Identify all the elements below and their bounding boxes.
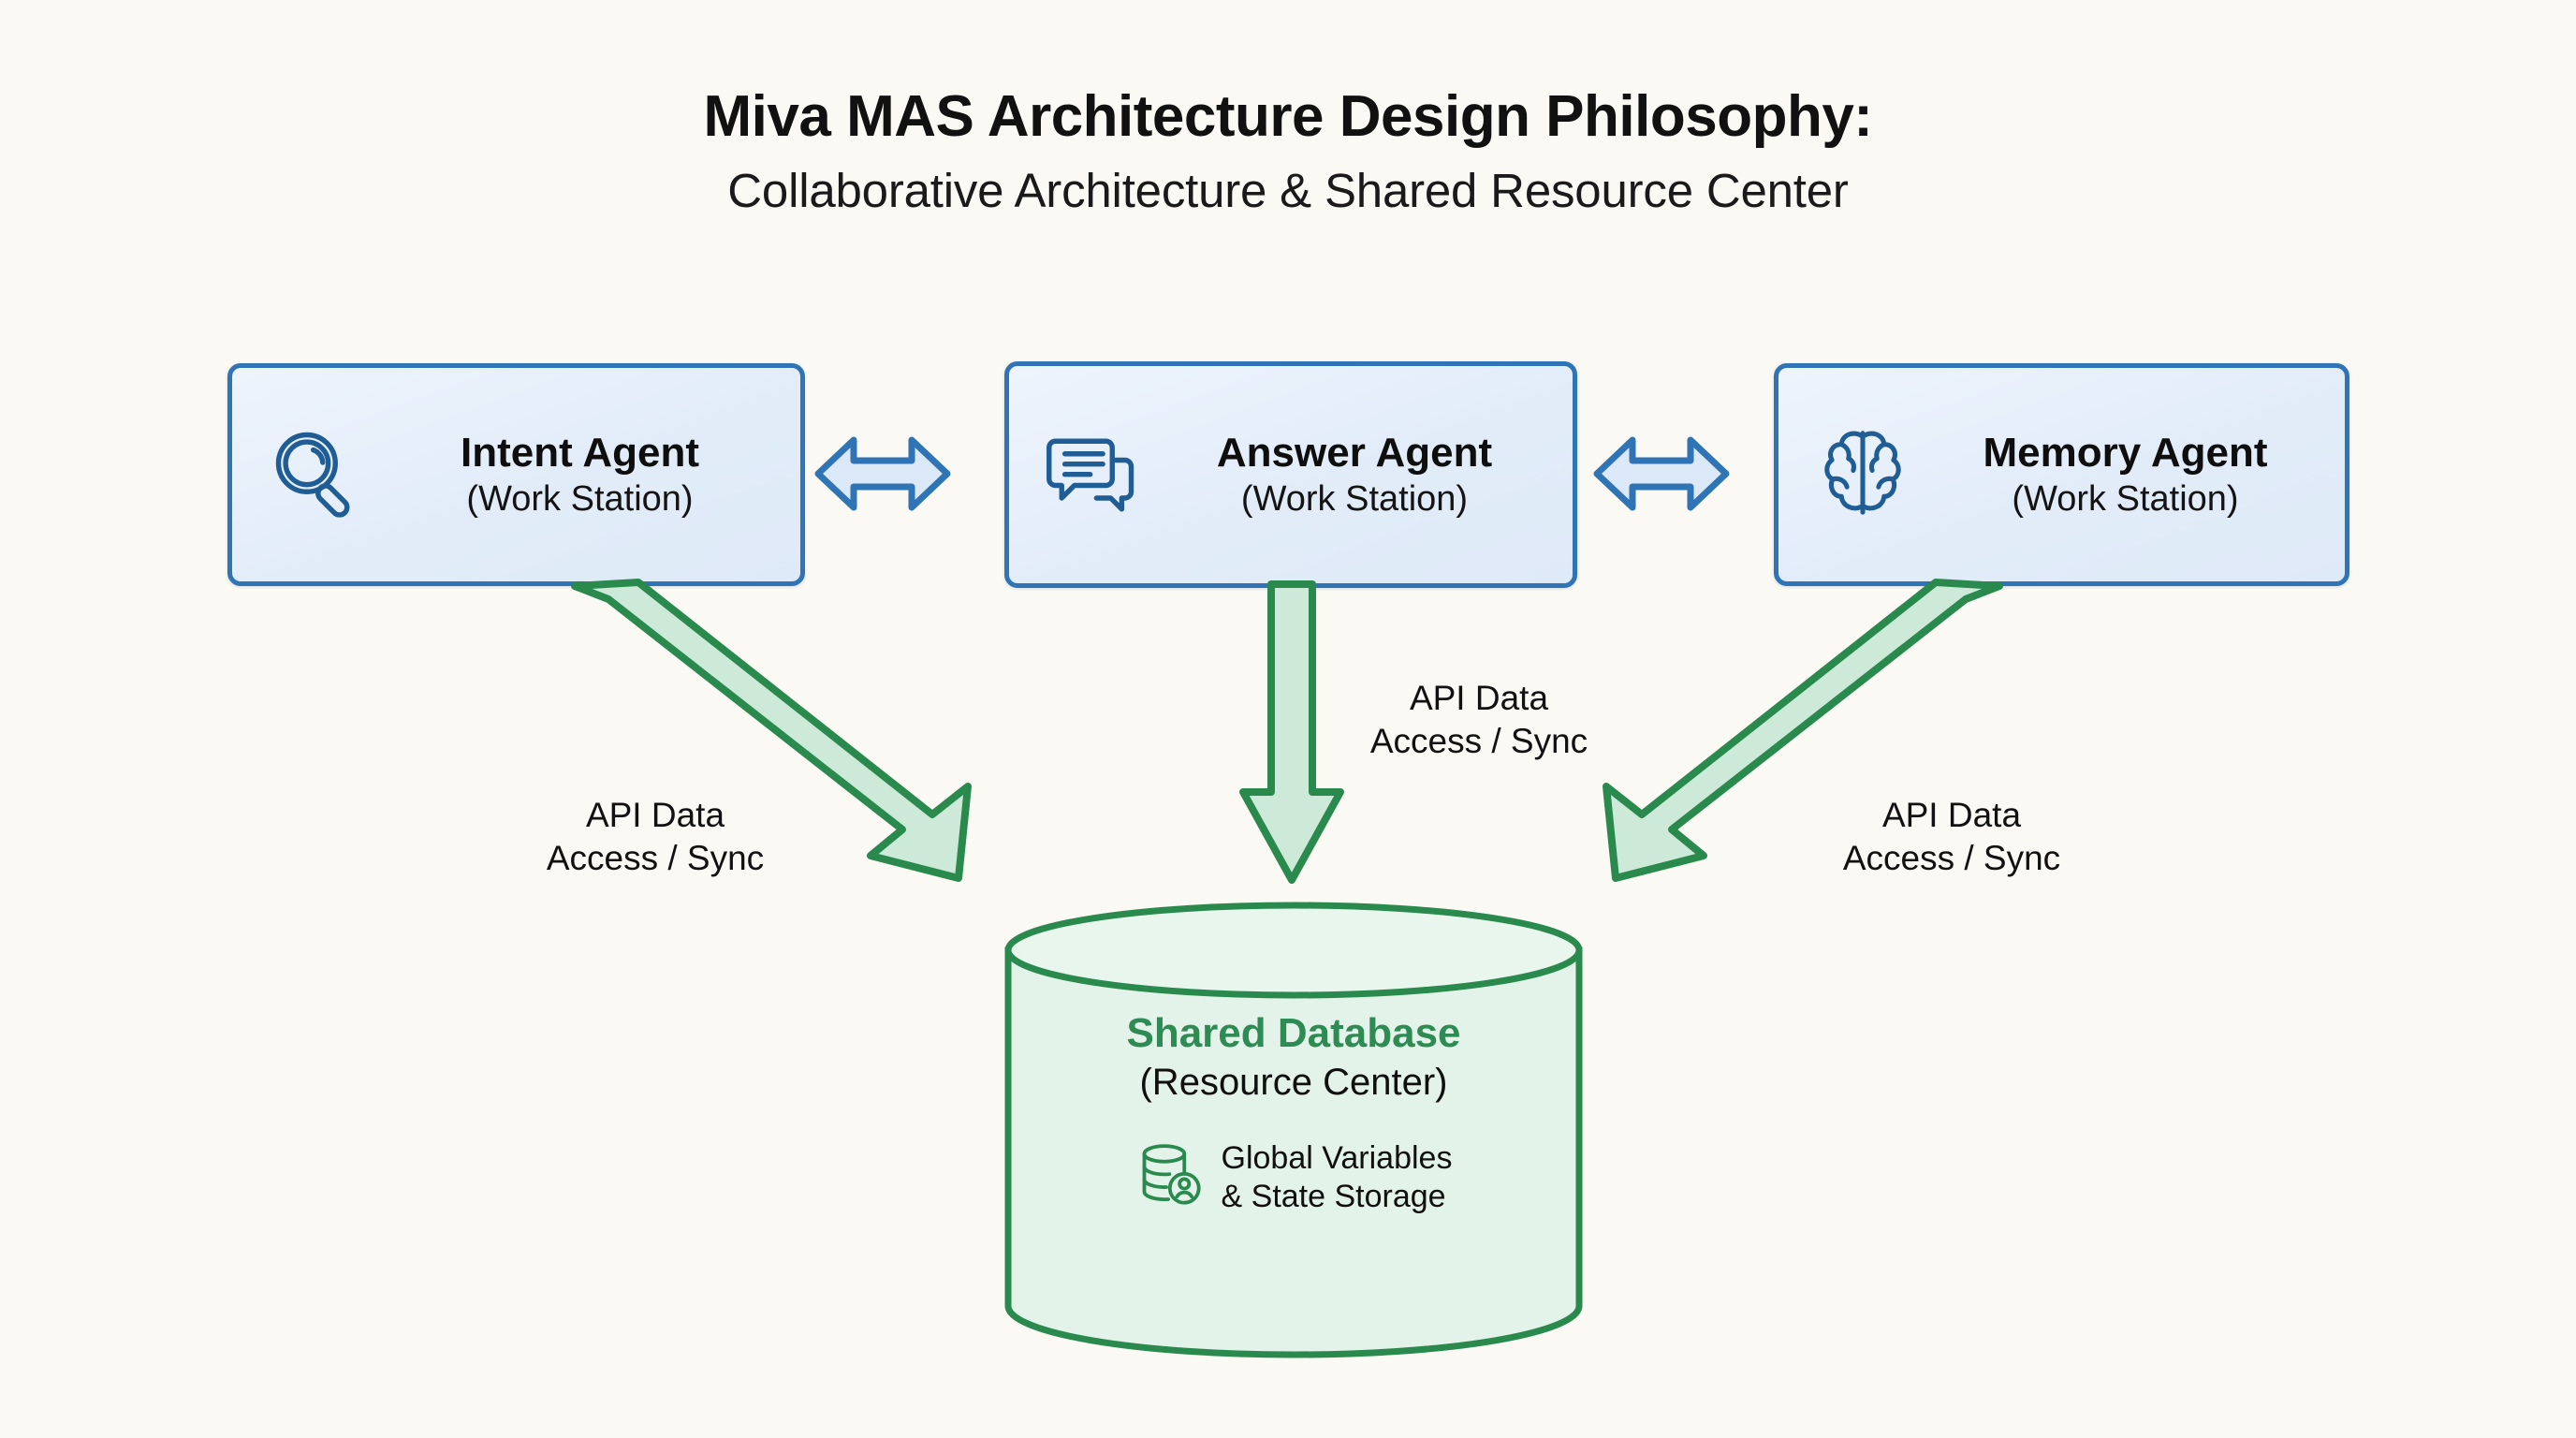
database-subtitle: (Resource Center) xyxy=(1003,1062,1584,1104)
shared-database-content: Shared Database (Resource Center) Global… xyxy=(1003,1011,1584,1216)
flow-label-left: API Data Access / Sync xyxy=(520,794,791,880)
flow-label-center: API Data Access / Sync xyxy=(1343,677,1615,763)
page-subtitle: Collaborative Architecture & Shared Reso… xyxy=(0,166,2576,216)
double-headed-arrow-icon xyxy=(812,423,953,529)
flow-label-right: API Data Access / Sync xyxy=(1816,794,2087,880)
flow-label-center-line1: API Data xyxy=(1343,677,1615,720)
database-user-icon xyxy=(1135,1139,1207,1215)
magnifier-icon xyxy=(266,422,367,528)
flow-label-right-line2: Access / Sync xyxy=(1816,837,2087,880)
agent-title-answer: Answer Agent xyxy=(1217,430,1492,476)
agent-text-memory: Memory Agent (Work Station) xyxy=(1926,430,2345,521)
agent-subtitle-answer: (Work Station) xyxy=(1157,479,1552,521)
database-title: Shared Database xyxy=(1003,1011,1584,1056)
flow-label-right-line1: API Data xyxy=(1816,794,2087,837)
agent-box-memory[interactable]: Memory Agent (Work Station) xyxy=(1774,363,2349,586)
agent-text-answer: Answer Agent (Work Station) xyxy=(1157,430,1573,521)
agent-box-intent[interactable]: Intent Agent (Work Station) xyxy=(227,363,805,586)
database-detail-text: Global Variables & State Storage xyxy=(1222,1139,1453,1216)
flow-arrow-answer-to-database xyxy=(1236,579,1348,892)
flow-label-left-line1: API Data xyxy=(520,794,791,837)
database-detail-line2: & State Storage xyxy=(1222,1178,1453,1216)
title-block: Miva MAS Architecture Design Philosophy:… xyxy=(0,86,2576,216)
chat-bubbles-icon xyxy=(1043,422,1144,528)
agent-title-memory: Memory Agent xyxy=(1983,430,2268,476)
agent-subtitle-intent: (Work Station) xyxy=(380,479,780,521)
flow-label-left-line2: Access / Sync xyxy=(520,837,791,880)
brain-icon xyxy=(1812,422,1913,528)
agent-title-intent: Intent Agent xyxy=(461,430,699,476)
agent-text-intent: Intent Agent (Work Station) xyxy=(380,430,800,521)
agent-box-answer[interactable]: Answer Agent (Work Station) xyxy=(1004,361,1577,588)
double-headed-arrow-icon xyxy=(1591,423,1732,529)
database-detail: Global Variables & State Storage xyxy=(1003,1139,1584,1216)
database-detail-line1: Global Variables xyxy=(1222,1139,1453,1178)
diagram-canvas: Miva MAS Architecture Design Philosophy:… xyxy=(0,0,2576,1438)
agent-subtitle-memory: (Work Station) xyxy=(1926,479,2324,521)
page-title: Miva MAS Architecture Design Philosophy: xyxy=(0,86,2576,147)
flow-label-center-line2: Access / Sync xyxy=(1343,720,1615,763)
